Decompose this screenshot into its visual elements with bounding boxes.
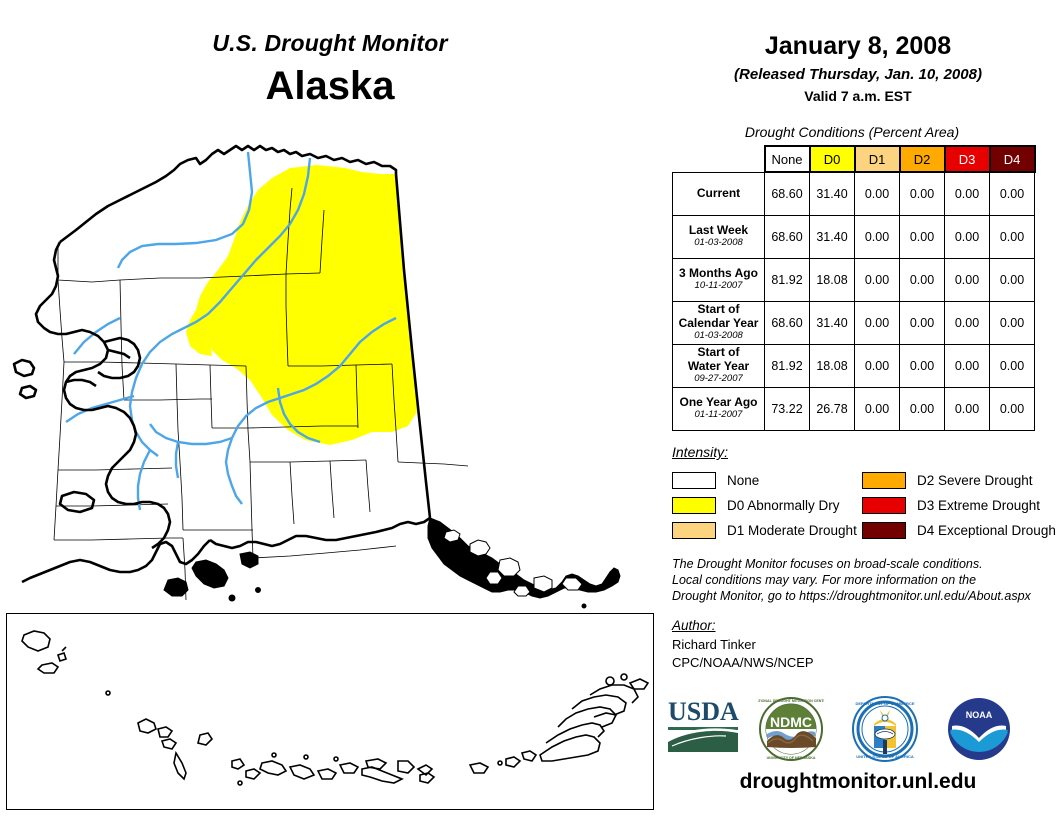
cell-d0: 31.40 [810,301,855,344]
legend-label: D2 Severe Drought [917,473,1033,488]
row-label-text: One Year Ago [673,396,764,410]
cell-d1: 0.00 [855,344,900,387]
svg-text:UNITED STATES OF AMERICA: UNITED STATES OF AMERICA [856,754,914,759]
legend-item: D2 Severe Drought [862,468,1056,493]
cell-d3: 0.00 [945,258,990,301]
cell-d2: 0.00 [900,344,945,387]
cell-d4: 0.00 [990,172,1035,215]
cell-d4: 0.00 [990,387,1035,430]
cell-d1: 0.00 [855,301,900,344]
legend-swatch [672,522,716,539]
legend-label: D3 Extreme Drought [917,498,1040,513]
table-header-row: None D0 D1 D2 D3 D4 [673,146,1035,172]
row-label-date: 01-03-2008 [673,331,764,342]
row-label-text: Calendar Year [673,317,764,331]
row-label-text: Last Week [673,224,764,238]
svg-text:NATIONAL DROUGHT MITIGATION CE: NATIONAL DROUGHT MITIGATION CENTER [758,699,824,703]
cell-d4: 0.00 [990,301,1035,344]
cell-none: 73.22 [765,387,810,430]
row-label-text: Start of [673,303,764,317]
drought-area-d0 [186,165,418,445]
cell-d3: 0.00 [945,215,990,258]
table-row: Start ofWater Year09-27-200781.9218.080.… [673,344,1035,387]
doc-seal: DEPARTMENT OF COMMERCE UNITED STATES OF … [852,696,918,767]
site-url: droughtmonitor.unl.edu [660,770,1056,794]
table-row: Current68.6031.400.000.000.000.00 [673,172,1035,215]
legend-item: D4 Exceptional Drought [862,518,1056,543]
cell-d3: 0.00 [945,387,990,430]
aleutian-inset-map [6,613,654,810]
table-row: 3 Months Ago10-11-200781.9218.080.000.00… [673,258,1035,301]
cell-none: 68.60 [765,215,810,258]
row-label-date: 01-03-2008 [673,238,764,249]
legend-swatch [672,497,716,514]
cell-none: 68.60 [765,301,810,344]
svg-text:USDA: USDA [668,697,739,726]
legend-swatch [862,497,906,514]
cell-d3: 0.00 [945,344,990,387]
row-label: Start ofCalendar Year01-03-2008 [673,301,765,344]
cell-d1: 0.00 [855,215,900,258]
cell-d0: 26.78 [810,387,855,430]
drought-conditions-table: None D0 D1 D2 D3 D4 Current68.6031.400.0… [672,145,1036,431]
legend-swatch [672,472,716,489]
row-label: One Year Ago01-11-2007 [673,387,765,430]
table-caption: Drought Conditions (Percent Area) [672,124,1032,140]
noaa-logo: NOAA [946,696,1012,767]
cell-none: 81.92 [765,344,810,387]
svg-text:NOAA: NOAA [966,710,993,720]
page-title-state: Alaska [0,64,660,109]
cell-d4: 0.00 [990,215,1035,258]
cell-d0: 18.08 [810,258,855,301]
page-title-usdm: U.S. Drought Monitor [0,30,660,57]
legend-item: D3 Extreme Drought [862,493,1056,518]
row-label-date: 10-11-2007 [673,281,764,292]
author-name: Richard Tinker [672,636,992,654]
column-header-d4: D4 [990,146,1035,172]
legend-column-left: NoneD0 Abnormally DryD1 Moderate Drought [672,468,857,543]
intensity-legend-title: Intensity: [672,444,728,460]
svg-text:UNIVERSITY OF NEBRASKA: UNIVERSITY OF NEBRASKA [767,756,816,760]
author-info: Richard Tinker CPC/NOAA/NWS/NCEP [672,636,992,671]
row-label: Start ofWater Year09-27-2007 [673,344,765,387]
disclaimer-line: Drought Monitor, go to https://droughtmo… [672,588,1050,604]
cell-d3: 0.00 [945,301,990,344]
column-header-d0: D0 [810,146,855,172]
cell-d2: 0.00 [900,301,945,344]
cell-d4: 0.00 [990,258,1035,301]
cell-d2: 0.00 [900,172,945,215]
row-label-text: Start of [673,346,764,360]
column-header-none: None [765,146,810,172]
cell-d1: 0.00 [855,172,900,215]
alaska-drought-map [0,110,660,610]
legend-label: D1 Moderate Drought [727,523,857,538]
cell-d2: 0.00 [900,215,945,258]
column-header-d2: D2 [900,146,945,172]
column-header-d1: D1 [855,146,900,172]
svg-text:DEPARTMENT OF COMMERCE: DEPARTMENT OF COMMERCE [855,701,914,706]
aleutian-islands [22,631,648,785]
row-label-text: Water Year [673,360,764,374]
cell-d4: 0.00 [990,344,1035,387]
cell-d2: 0.00 [900,387,945,430]
legend-swatch [862,522,906,539]
svg-text:NDMC: NDMC [770,714,812,730]
author-affiliation: CPC/NOAA/NWS/NCEP [672,654,992,672]
cell-d2: 0.00 [900,258,945,301]
cell-d3: 0.00 [945,172,990,215]
column-header-d3: D3 [945,146,990,172]
table-row: Start ofCalendar Year01-03-200868.6031.4… [673,301,1035,344]
legend-item: D0 Abnormally Dry [672,493,857,518]
disclaimer-line: Local conditions may vary. For more info… [672,572,1050,588]
row-label-text: 3 Months Ago [673,267,764,281]
cell-d0: 18.08 [810,344,855,387]
valid-time: Valid 7 a.m. EST [660,88,1056,104]
header-spacer [673,146,765,172]
logo-strip: USDA NDMC NATIONAL DROUGHT MITIGATION CE… [666,696,1050,764]
legend-label: None [727,473,759,488]
legend-swatch [862,472,906,489]
row-label-date: 09-27-2007 [673,374,764,385]
legend-label: D0 Abnormally Dry [727,498,840,513]
legend-label: D4 Exceptional Drought [917,523,1056,538]
disclaimer-line: The Drought Monitor focuses on broad-sca… [672,556,1050,572]
row-label: Current [673,172,765,215]
cell-none: 81.92 [765,258,810,301]
table-body: Current68.6031.400.000.000.000.00Last We… [673,172,1035,430]
legend-item: D1 Moderate Drought [672,518,857,543]
release-date: (Released Thursday, Jan. 10, 2008) [660,66,1056,83]
author-label: Author: [672,618,716,633]
row-label: Last Week01-03-2008 [673,215,765,258]
disclaimer-text: The Drought Monitor focuses on broad-sca… [672,556,1050,604]
report-date: January 8, 2008 [660,32,1056,61]
table-row: One Year Ago01-11-200773.2226.780.000.00… [673,387,1035,430]
table-row: Last Week01-03-200868.6031.400.000.000.0… [673,215,1035,258]
usda-logo: USDA [666,696,740,759]
legend-column-right: D2 Severe DroughtD3 Extreme DroughtD4 Ex… [862,468,1056,543]
row-label: 3 Months Ago10-11-2007 [673,258,765,301]
southeast-panhandle [428,518,620,608]
cell-d1: 0.00 [855,258,900,301]
cell-none: 68.60 [765,172,810,215]
cell-d0: 31.40 [810,215,855,258]
cell-d0: 31.40 [810,172,855,215]
legend-item: None [672,468,857,493]
row-label-date: 01-11-2007 [673,410,764,421]
row-label-text: Current [673,187,764,201]
ndmc-logo: NDMC NATIONAL DROUGHT MITIGATION CENTER … [758,696,824,767]
cell-d1: 0.00 [855,387,900,430]
